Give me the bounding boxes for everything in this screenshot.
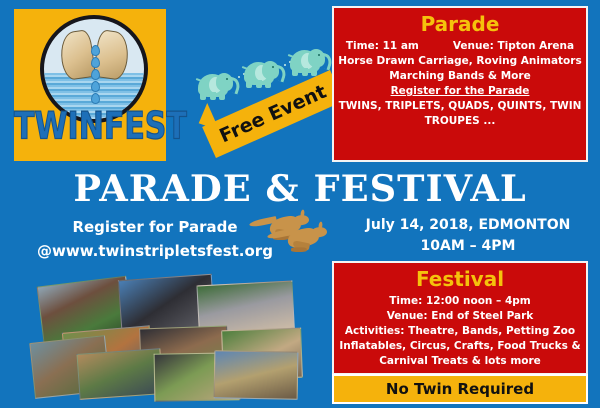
droplet-icon [91,69,100,80]
register-url[interactable]: @www.twinstripletsfest.org [30,239,280,263]
elephant-icon [242,58,282,88]
festival-detail-1: Inflatables, Circus, Crafts, Food Trucks… [334,339,586,354]
twinfest-logo: TWINFEST [14,9,166,161]
parade-title: Parade [334,12,586,36]
festival-time: Time: 12:00 noon – 4pm [334,294,586,309]
event-poster: TWINFEST Free Event Parade Time: 11 am V… [0,0,600,408]
festival-panel: Festival Time: 12:00 noon – 4pm Venue: E… [332,261,588,375]
collage-photo [214,350,299,399]
elephant-icon [288,46,328,76]
register-block: Register for Parade @www.twinstripletsfe… [30,215,280,263]
event-hours: 10AM – 4PM [352,236,584,257]
festival-venue: Venue: End of Steel Park [334,309,586,324]
festival-title: Festival [334,267,586,291]
festival-activities: Activities: Theatre, Bands, Petting Zoo [334,324,586,339]
droplet-icon [91,93,100,104]
droplet-icon [91,57,100,68]
parade-venue: Venue: Tipton Arena [449,39,578,54]
logo-wordmark: TWINFEST [14,105,166,149]
parade-panel: Parade Time: 11 am Venue: Tipton Arena H… [332,6,588,162]
register-heading: Register for Parade [30,215,280,239]
parade-detail-1: Horse Drawn Carriage, Roving Animators [334,54,586,69]
date-block: July 14, 2018, EDMONTON 10AM – 4PM [352,215,584,257]
parade-time: Time: 11 am [342,39,423,54]
parade-register-link[interactable]: Register for the Parade [334,84,586,99]
photo-collage [12,277,304,403]
page-title: PARADE & FESTIVAL [0,168,600,210]
parade-detail-3: TWINS, TRIPLETS, QUADS, QUINTS, TWIN [334,99,586,114]
dot-icon [284,64,286,66]
parade-detail-4: TROUPES ... [334,114,586,129]
festival-detail-2: Carnival Treats & lots more [334,354,586,369]
droplet-icon [91,45,100,56]
parade-time-venue-row: Time: 11 am Venue: Tipton Arena [334,39,586,54]
kangaroo-icon [250,208,355,264]
no-twin-required-banner: No Twin Required [332,374,588,404]
event-date: July 14, 2018, EDMONTON [352,215,584,236]
dot-icon [238,76,240,78]
droplet-icon [91,81,100,92]
collage-photo [76,348,163,400]
elephant-icon [196,70,236,100]
parade-detail-2: Marching Bands & More [334,69,586,84]
